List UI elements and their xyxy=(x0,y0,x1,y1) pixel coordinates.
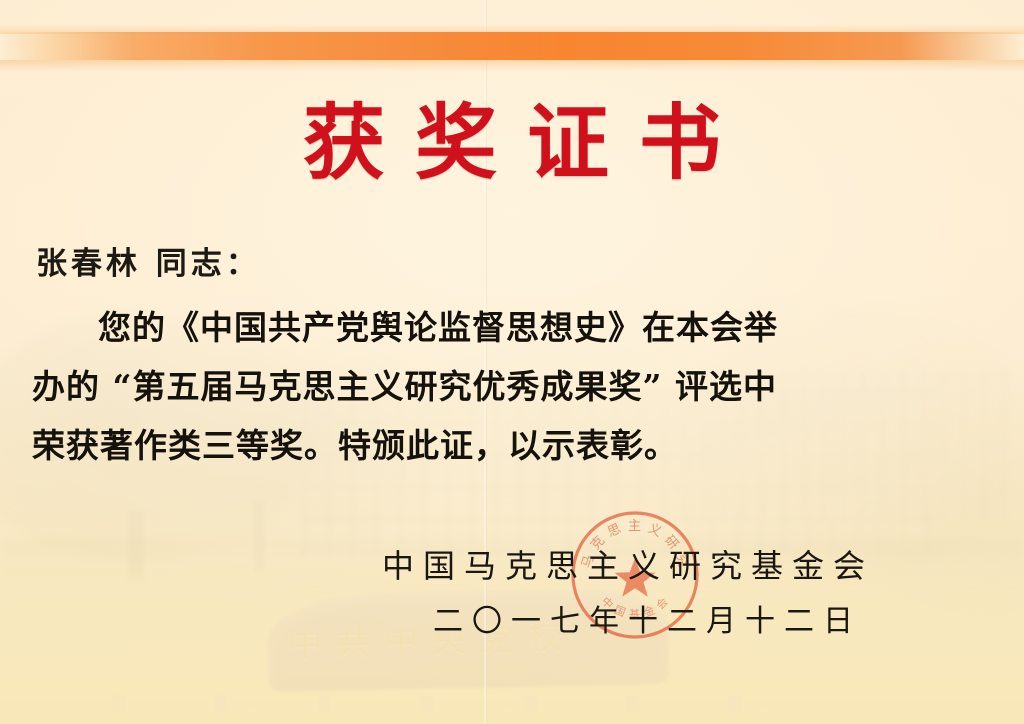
certificate-content: 获奖证书 张春林 同志： 您的《中国共产党舆论监督思想史》在本会举 办的 “第五… xyxy=(0,0,1024,724)
body-line-3: 荣获著作类三等奖。特颁此证，以示表彰。 xyxy=(32,416,984,475)
issue-date: 二〇一七年十二月十二日 xyxy=(382,596,862,648)
certificate-page: 中共中央党校 获奖证书 张春林 同志： 您的《中国共产党舆论监督思想史》在本会举… xyxy=(0,0,1024,724)
issuing-organization: 中国马克思主义研究基金会 xyxy=(382,540,874,592)
body-line-1: 您的《中国共产党舆论监督思想史》在本会举 xyxy=(32,298,984,357)
certificate-body: 您的《中国共产党舆论监督思想史》在本会举 办的 “第五届马克思主义研究优秀成果奖… xyxy=(32,298,984,475)
body-line-2: 办的 “第五届马克思主义研究优秀成果奖” 评选中 xyxy=(32,357,984,416)
salutation-line: 张春林 同志： xyxy=(36,238,261,283)
certificate-title: 获奖证书 xyxy=(0,100,1024,186)
signature-block: 中国马克思主义研究基金会 二〇一七年十二月十二日 xyxy=(382,540,874,648)
